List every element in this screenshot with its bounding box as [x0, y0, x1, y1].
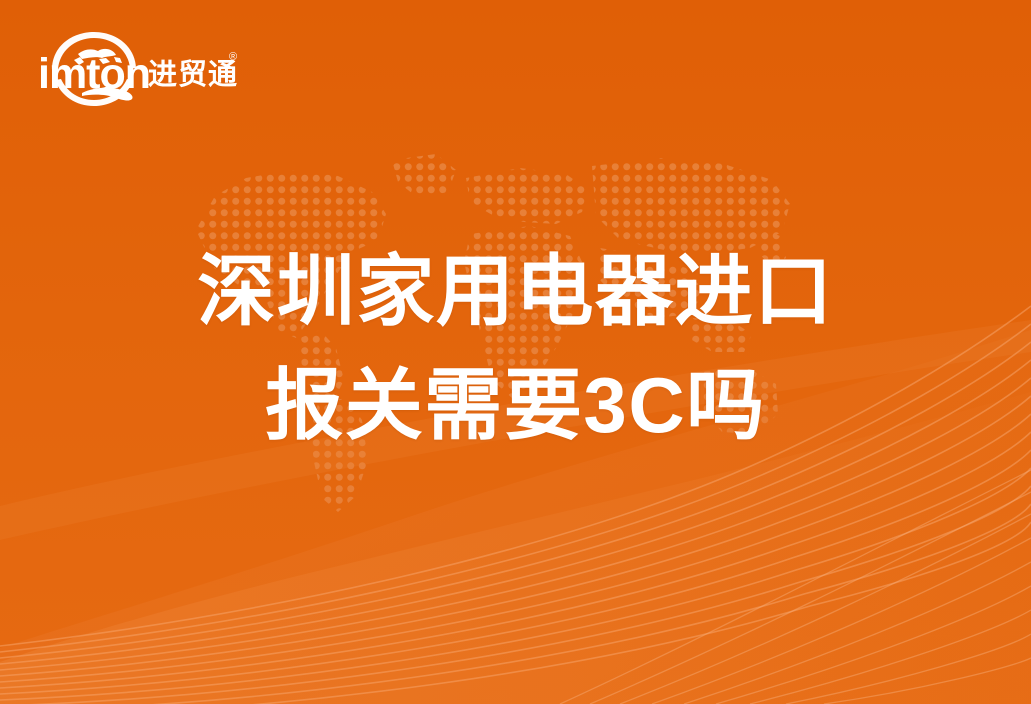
registered-trademark-icon: ®	[229, 51, 237, 63]
logo-wordmark: imton	[38, 50, 150, 98]
headline-block: 深圳家用电器进口 报关需要3C吗	[0, 252, 1031, 444]
promotional-banner: imton 进贸通 ® 深圳家用电器进口 报关需要3C吗	[0, 0, 1031, 704]
logo-graphic: imton 进贸通 ®	[36, 26, 246, 110]
headline-line-2: 报关需要3C吗	[0, 366, 1031, 444]
logo-chinese-name: 进贸通	[148, 58, 238, 91]
headline-line-1: 深圳家用电器进口	[0, 252, 1031, 330]
brand-logo[interactable]: imton 进贸通 ®	[36, 26, 246, 110]
